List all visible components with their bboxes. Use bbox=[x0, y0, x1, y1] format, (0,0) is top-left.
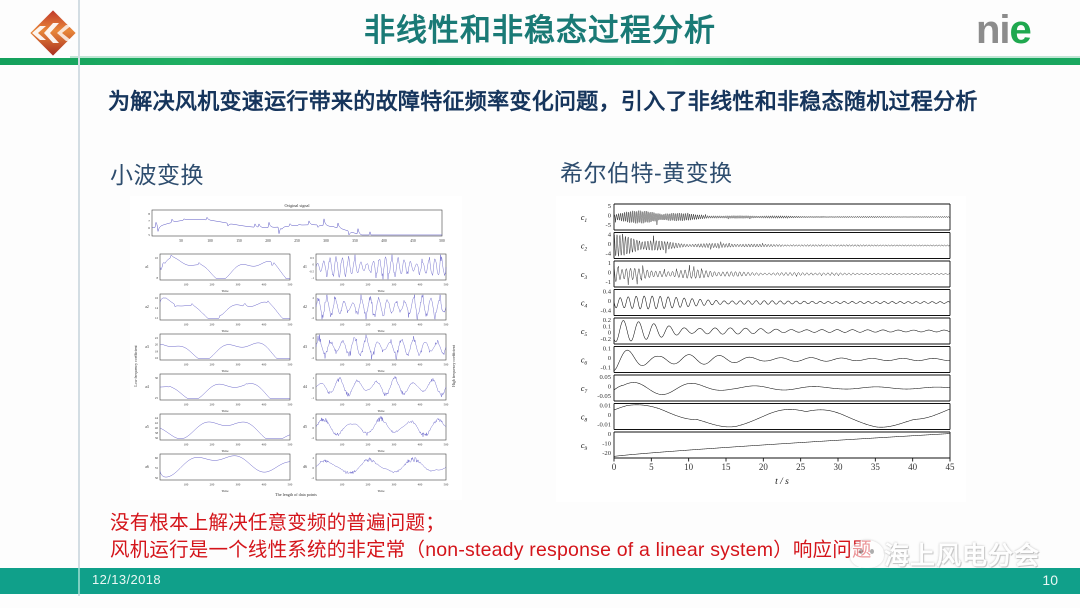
svg-text:-1: -1 bbox=[606, 279, 612, 286]
svg-text:200: 200 bbox=[366, 443, 371, 447]
svg-text:Time: Time bbox=[221, 289, 229, 293]
svg-text:40: 40 bbox=[908, 462, 918, 472]
conclusion-text: 没有根本上解决任意变频的普遍问题； 风机运行是一个线性系统的非定常（non-st… bbox=[110, 510, 1050, 564]
svg-text:-5: -5 bbox=[606, 222, 612, 229]
svg-text:0: 0 bbox=[608, 241, 612, 248]
svg-text:500: 500 bbox=[288, 363, 293, 367]
svg-text:500: 500 bbox=[288, 483, 293, 487]
svg-text:300: 300 bbox=[236, 403, 241, 407]
svg-text:c4: c4 bbox=[581, 299, 588, 310]
svg-text:100: 100 bbox=[184, 363, 189, 367]
svg-text:0: 0 bbox=[608, 213, 612, 220]
lead-paragraph: 为解决风机变速运行带来的故障特征频率变化问题，引入了非线性和非稳态随机过程分析 bbox=[108, 86, 1008, 117]
svg-text:16: 16 bbox=[155, 356, 159, 360]
svg-text:c7: c7 bbox=[581, 384, 588, 395]
svg-text:Time: Time bbox=[377, 409, 385, 413]
svg-text:50: 50 bbox=[155, 476, 159, 480]
svg-text:100: 100 bbox=[184, 403, 189, 407]
svg-text:500: 500 bbox=[444, 363, 449, 367]
svg-text:400: 400 bbox=[262, 403, 267, 407]
nie-logo-ni: ni bbox=[976, 8, 1010, 52]
svg-text:400: 400 bbox=[418, 403, 423, 407]
page-title: 非线性和非稳态过程分析 bbox=[180, 9, 900, 53]
svg-text:500: 500 bbox=[444, 323, 449, 327]
svg-text:300: 300 bbox=[392, 403, 397, 407]
svg-text:60: 60 bbox=[155, 456, 159, 460]
svg-text:c5: c5 bbox=[581, 327, 588, 338]
svg-text:25: 25 bbox=[155, 396, 159, 400]
svg-text:200: 200 bbox=[210, 323, 215, 327]
svg-text:200: 200 bbox=[366, 323, 371, 327]
svg-text:45: 45 bbox=[946, 462, 956, 472]
svg-text:-1: -1 bbox=[311, 276, 314, 280]
svg-text:500: 500 bbox=[288, 403, 293, 407]
svg-text:100: 100 bbox=[340, 363, 345, 367]
svg-text:0: 0 bbox=[312, 386, 314, 390]
svg-text:300: 300 bbox=[392, 323, 397, 327]
svg-text:2: 2 bbox=[312, 416, 314, 420]
svg-text:d6: d6 bbox=[303, 465, 307, 469]
svg-text:8: 8 bbox=[156, 276, 158, 280]
nie-brand-logo: nie bbox=[976, 8, 1066, 52]
svg-text:0: 0 bbox=[312, 346, 314, 350]
svg-text:500: 500 bbox=[444, 483, 449, 487]
svg-text:c1: c1 bbox=[581, 213, 588, 224]
svg-text:38: 38 bbox=[155, 431, 159, 435]
svg-text:200: 200 bbox=[366, 363, 371, 367]
svg-text:0.05: 0.05 bbox=[599, 374, 611, 381]
svg-text:0: 0 bbox=[608, 412, 612, 419]
svg-text:0: 0 bbox=[608, 384, 612, 391]
svg-text:-2: -2 bbox=[311, 316, 314, 320]
svg-text:500: 500 bbox=[444, 283, 449, 287]
subhead-wavelet-transform: 小波变换 bbox=[110, 160, 204, 190]
svg-text:5: 5 bbox=[649, 462, 654, 472]
slide-footer: 12/13/2018 10 bbox=[0, 568, 1080, 594]
svg-text:0.4: 0.4 bbox=[603, 289, 612, 296]
svg-text:350: 350 bbox=[352, 239, 358, 243]
svg-text:20: 20 bbox=[155, 343, 159, 347]
svg-text:450: 450 bbox=[410, 239, 416, 243]
svg-text:Time: Time bbox=[377, 489, 385, 493]
svg-text:c9: c9 bbox=[581, 441, 588, 452]
svg-text:400: 400 bbox=[262, 363, 267, 367]
svg-text:Time: Time bbox=[377, 289, 385, 293]
svg-text:5: 5 bbox=[608, 203, 612, 210]
svg-text:Time: Time bbox=[221, 489, 229, 493]
svg-text:400: 400 bbox=[262, 323, 267, 327]
svg-text:100: 100 bbox=[340, 403, 345, 407]
svg-text:10: 10 bbox=[155, 256, 159, 260]
svg-text:200: 200 bbox=[366, 483, 371, 487]
svg-text:300: 300 bbox=[392, 443, 397, 447]
footer-separator bbox=[78, 568, 80, 594]
svg-text:0.1: 0.1 bbox=[603, 346, 611, 353]
svg-text:4: 4 bbox=[608, 232, 612, 239]
svg-text:c2: c2 bbox=[581, 242, 588, 253]
svg-text:44: 44 bbox=[155, 416, 159, 420]
svg-text:a1: a1 bbox=[145, 265, 149, 269]
svg-text:42: 42 bbox=[155, 421, 159, 425]
svg-text:25: 25 bbox=[796, 462, 806, 472]
subhead-hilbert-huang: 希尔伯特-黄变换 bbox=[560, 158, 733, 188]
svg-text:8: 8 bbox=[148, 212, 150, 216]
svg-text:200: 200 bbox=[210, 443, 215, 447]
conclusion-line-2: 风机运行是一个线性系统的非定常（non-steady response of a… bbox=[110, 537, 1050, 564]
svg-text:500: 500 bbox=[439, 239, 445, 243]
svg-text:d1: d1 bbox=[303, 265, 307, 269]
svg-text:200: 200 bbox=[265, 239, 271, 243]
svg-text:-2: -2 bbox=[311, 436, 314, 440]
svg-text:300: 300 bbox=[236, 483, 241, 487]
svg-text:c6: c6 bbox=[581, 356, 588, 367]
svg-text:0: 0 bbox=[612, 462, 617, 472]
svg-text:300: 300 bbox=[236, 323, 241, 327]
svg-text:12: 12 bbox=[155, 316, 159, 320]
svg-text:400: 400 bbox=[418, 283, 423, 287]
svg-text:300: 300 bbox=[236, 283, 241, 287]
footer-page-number: 10 bbox=[1042, 572, 1058, 588]
svg-text:300: 300 bbox=[236, 443, 241, 447]
svg-text:0: 0 bbox=[312, 306, 314, 310]
svg-text:a6: a6 bbox=[145, 465, 149, 469]
conclusion-line-1: 没有根本上解决任意变频的普遍问题； bbox=[110, 510, 1050, 537]
svg-text:Time: Time bbox=[221, 329, 229, 333]
left-guide-line bbox=[78, 0, 80, 596]
svg-text:400: 400 bbox=[262, 483, 267, 487]
svg-text:16: 16 bbox=[155, 296, 159, 300]
svg-text:-0.2: -0.2 bbox=[601, 336, 611, 343]
svg-text:35: 35 bbox=[871, 462, 881, 472]
svg-text:100: 100 bbox=[184, 443, 189, 447]
svg-text:100: 100 bbox=[184, 483, 189, 487]
svg-text:30: 30 bbox=[834, 462, 844, 472]
svg-text:High frequency coefficient: High frequency coefficient bbox=[452, 344, 456, 387]
svg-text:2: 2 bbox=[312, 336, 314, 340]
svg-text:0: 0 bbox=[608, 270, 612, 277]
svg-text:1: 1 bbox=[312, 376, 314, 380]
svg-text:2: 2 bbox=[312, 296, 314, 300]
svg-text:0: 0 bbox=[608, 431, 612, 438]
svg-text:36: 36 bbox=[155, 436, 159, 440]
svg-text:30: 30 bbox=[155, 376, 159, 380]
svg-text:Original signal: Original signal bbox=[284, 203, 310, 208]
svg-text:150: 150 bbox=[236, 239, 242, 243]
svg-text:0: 0 bbox=[608, 298, 612, 305]
svg-text:500: 500 bbox=[288, 283, 293, 287]
svg-text:-0.05: -0.05 bbox=[597, 393, 611, 400]
svg-text:100: 100 bbox=[184, 323, 189, 327]
svg-text:-10: -10 bbox=[602, 441, 611, 448]
svg-text:6: 6 bbox=[148, 226, 150, 230]
slide-root: 非线性和非稳态过程分析 nie 为解决风机变速运行带来的故障特征频率变化问题，引… bbox=[0, 0, 1080, 608]
svg-text:400: 400 bbox=[418, 443, 423, 447]
svg-text:a2: a2 bbox=[145, 305, 149, 309]
svg-text:Low frequency coefficient: Low frequency coefficient bbox=[134, 344, 138, 386]
svg-text:500: 500 bbox=[444, 403, 449, 407]
svg-text:0: 0 bbox=[608, 355, 612, 362]
svg-text:-1: -1 bbox=[311, 396, 314, 400]
svg-text:a4: a4 bbox=[145, 385, 149, 389]
svg-text:0: 0 bbox=[312, 426, 314, 430]
svg-text:400: 400 bbox=[418, 363, 423, 367]
svg-text:Time: Time bbox=[221, 449, 229, 453]
svg-text:-0.5: -0.5 bbox=[309, 269, 314, 273]
svg-text:0: 0 bbox=[312, 466, 314, 470]
svg-text:Time: Time bbox=[377, 329, 385, 333]
svg-text:400: 400 bbox=[418, 483, 423, 487]
svg-text:500: 500 bbox=[444, 443, 449, 447]
svg-text:500: 500 bbox=[288, 443, 293, 447]
svg-text:400: 400 bbox=[418, 323, 423, 327]
svg-text:c8: c8 bbox=[581, 413, 588, 424]
slide-header: 非线性和非稳态过程分析 nie bbox=[0, 0, 1080, 62]
svg-text:100: 100 bbox=[184, 283, 189, 287]
svg-text:200: 200 bbox=[210, 403, 215, 407]
svg-text:0: 0 bbox=[312, 263, 314, 267]
nie-logo-e: e bbox=[1010, 8, 1031, 52]
svg-text:d2: d2 bbox=[303, 305, 307, 309]
svg-text:300: 300 bbox=[236, 363, 241, 367]
svg-text:15: 15 bbox=[722, 462, 732, 472]
svg-text:200: 200 bbox=[210, 483, 215, 487]
svg-text:100: 100 bbox=[340, 443, 345, 447]
svg-text:400: 400 bbox=[262, 283, 267, 287]
svg-text:100: 100 bbox=[340, 483, 345, 487]
svg-text:Time: Time bbox=[377, 449, 385, 453]
svg-text:200: 200 bbox=[366, 403, 371, 407]
svg-text:a3: a3 bbox=[145, 345, 149, 349]
svg-text:40: 40 bbox=[155, 426, 159, 430]
svg-text:Time: Time bbox=[221, 369, 229, 373]
svg-text:300: 300 bbox=[392, 363, 397, 367]
header-divider bbox=[0, 58, 1080, 65]
svg-text:300: 300 bbox=[392, 283, 397, 287]
svg-text:100: 100 bbox=[340, 283, 345, 287]
svg-text:t / s: t / s bbox=[775, 477, 789, 487]
svg-text:2: 2 bbox=[312, 456, 314, 460]
svg-text:300: 300 bbox=[323, 239, 329, 243]
svg-text:7: 7 bbox=[148, 219, 150, 223]
svg-text:200: 200 bbox=[366, 283, 371, 287]
svg-text:400: 400 bbox=[262, 443, 267, 447]
svg-text:400: 400 bbox=[381, 239, 387, 243]
svg-text:The length of data points: The length of data points bbox=[275, 492, 317, 497]
svg-text:55: 55 bbox=[155, 466, 159, 470]
hilbert-huang-imf-figure: c150-5c240-4c310-1c40.40-0.4c50.20.10-0.… bbox=[556, 196, 966, 502]
svg-text:d3: d3 bbox=[303, 345, 307, 349]
footer-date: 12/13/2018 bbox=[92, 572, 161, 587]
svg-text:18: 18 bbox=[155, 349, 159, 353]
svg-text:0.01: 0.01 bbox=[599, 403, 611, 410]
svg-text:-0.01: -0.01 bbox=[597, 422, 611, 429]
svg-text:200: 200 bbox=[210, 363, 215, 367]
svg-text:0.5: 0.5 bbox=[310, 256, 314, 260]
svg-text:Time: Time bbox=[377, 369, 385, 373]
svg-text:100: 100 bbox=[340, 323, 345, 327]
svg-text:100: 100 bbox=[207, 239, 213, 243]
svg-text:10: 10 bbox=[684, 462, 694, 472]
svg-text:50: 50 bbox=[179, 239, 183, 243]
wavelet-decomposition-figure: Original signal5010015020025030035040045… bbox=[130, 196, 462, 500]
svg-text:200: 200 bbox=[210, 283, 215, 287]
company-diamond-logo bbox=[22, 10, 84, 56]
svg-text:5: 5 bbox=[148, 233, 150, 237]
svg-text:-2: -2 bbox=[311, 476, 314, 480]
svg-text:300: 300 bbox=[392, 483, 397, 487]
svg-text:14: 14 bbox=[155, 306, 159, 310]
svg-text:22: 22 bbox=[155, 336, 159, 340]
svg-text:1: 1 bbox=[608, 260, 611, 267]
svg-text:-0.4: -0.4 bbox=[601, 308, 612, 315]
svg-text:d4: d4 bbox=[303, 385, 307, 389]
svg-text:c3: c3 bbox=[581, 270, 588, 281]
svg-text:-0.1: -0.1 bbox=[601, 365, 611, 372]
svg-text:d5: d5 bbox=[303, 425, 307, 429]
svg-text:20: 20 bbox=[759, 462, 769, 472]
svg-text:a5: a5 bbox=[145, 425, 149, 429]
svg-text:-2: -2 bbox=[311, 356, 314, 360]
svg-text:500: 500 bbox=[288, 323, 293, 327]
svg-text:250: 250 bbox=[294, 239, 300, 243]
svg-text:-20: -20 bbox=[602, 450, 611, 457]
svg-text:-4: -4 bbox=[606, 251, 612, 258]
svg-text:Time: Time bbox=[221, 409, 229, 413]
